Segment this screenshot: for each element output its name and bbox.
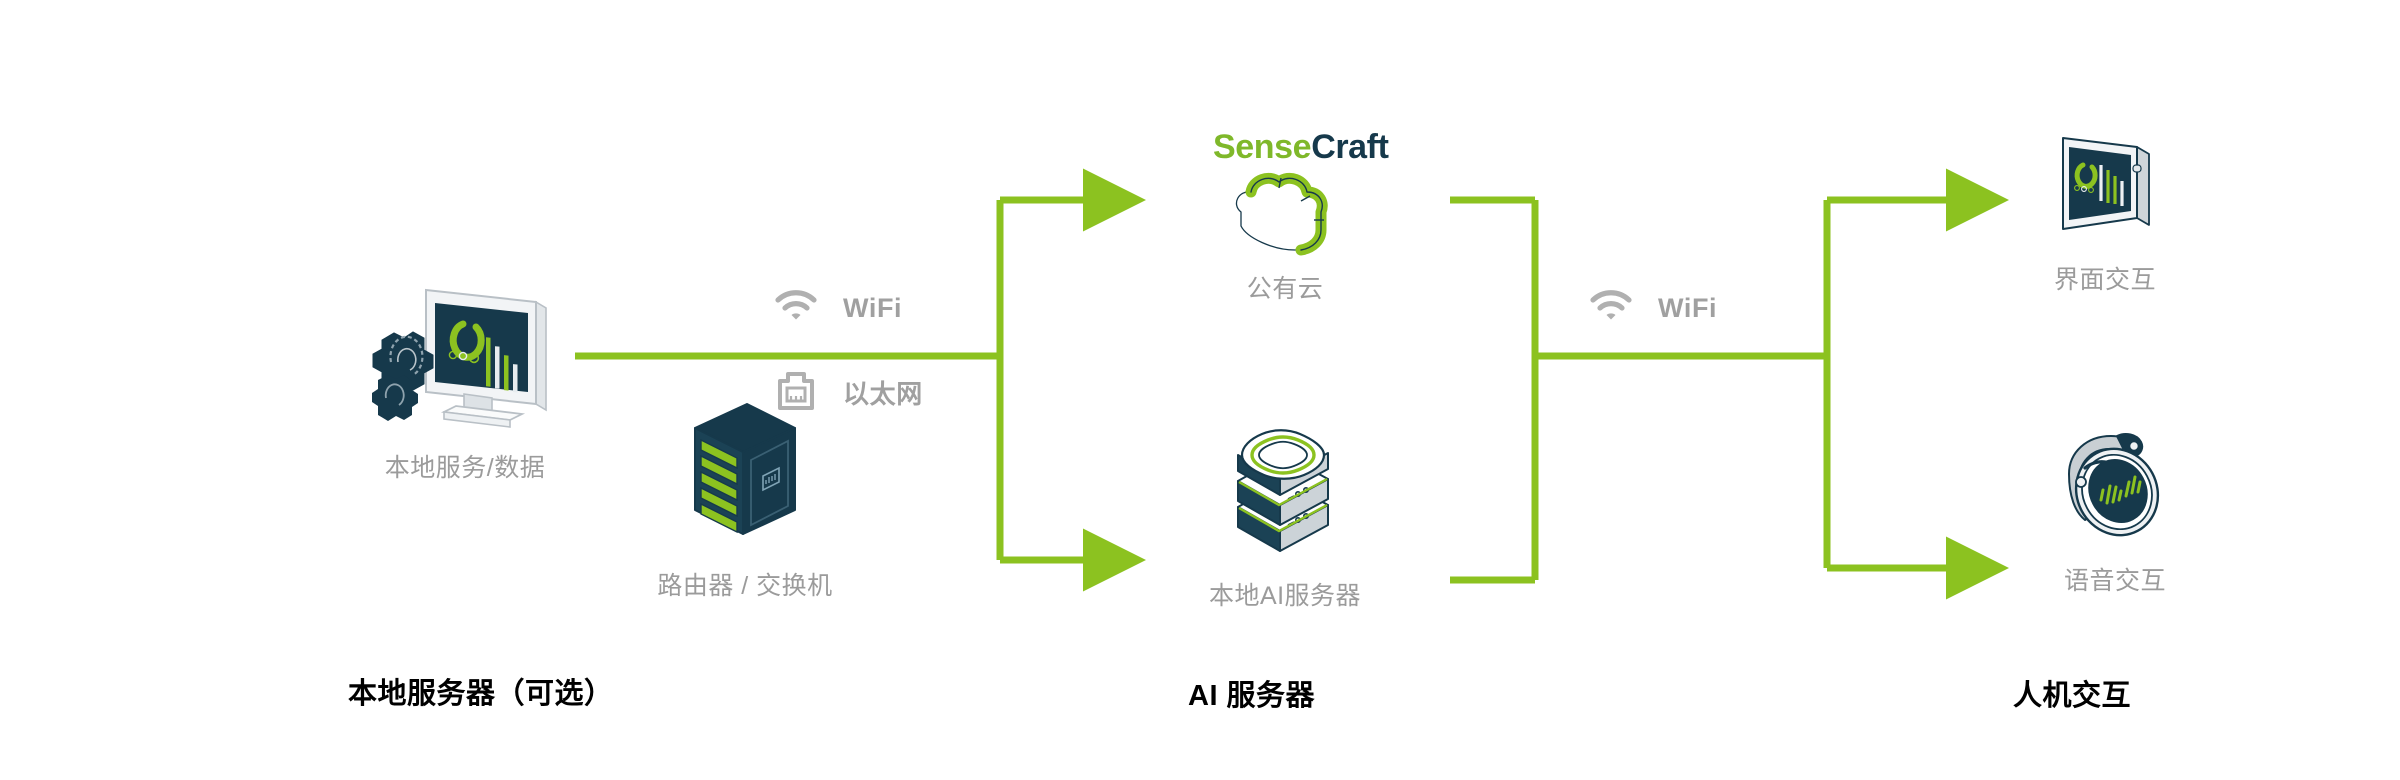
wifi-icon — [775, 290, 817, 327]
ai-server-stack-icon — [1228, 425, 1343, 570]
node-ui-interaction-caption: 界面交互 — [2054, 268, 2156, 293]
smart-speaker-icon — [2055, 430, 2175, 555]
cloud-icon — [1225, 168, 1345, 265]
node-local-service[interactable]: 本地服务/数据 — [340, 262, 590, 481]
link-label-ethernet-text: 以太网 — [843, 381, 923, 407]
sensecraft-logo-part1: Sense — [1213, 128, 1311, 166]
node-voice-interaction-caption: 语音交互 — [2064, 569, 2166, 594]
node-local-ai-server[interactable]: 本地AI服务器 — [1180, 425, 1390, 609]
node-router-caption: 路由器 / 交换机 — [657, 574, 832, 599]
sensecraft-logo-part2: Craft — [1311, 128, 1388, 166]
section-title-local-server: 本地服务器（可选） — [348, 680, 614, 709]
ethernet-port-icon — [775, 370, 817, 417]
link-label-wifi-left: WiFi — [775, 290, 902, 327]
architecture-diagram: 本地服务/数据 — [0, 0, 2400, 780]
sensecraft-logo: SenseCraft — [1213, 130, 1389, 164]
node-ui-interaction[interactable]: 界面交互 — [2010, 125, 2200, 293]
node-local-service-caption: 本地服务/数据 — [385, 456, 545, 481]
link-label-wifi-right-text: WiFi — [1658, 295, 1717, 322]
node-local-ai-server-caption: 本地AI服务器 — [1209, 584, 1361, 609]
server-rack-icon — [685, 398, 805, 558]
wifi-icon — [1590, 290, 1632, 327]
link-label-ethernet: 以太网 — [775, 370, 923, 417]
monitor-dashboard-icon — [360, 262, 570, 442]
node-public-cloud-caption: 公有云 — [1247, 277, 1324, 302]
link-label-wifi-right: WiFi — [1590, 290, 1717, 327]
section-title-human-interaction: 人机交互 — [2013, 682, 2131, 711]
node-public-cloud[interactable]: 公有云 — [1195, 168, 1375, 302]
node-voice-interaction[interactable]: 语音交互 — [2020, 430, 2210, 594]
tablet-icon — [2049, 125, 2161, 254]
link-label-wifi-left-text: WiFi — [843, 295, 902, 322]
section-title-ai-server: AI 服务器 — [1188, 682, 1315, 711]
node-router[interactable]: 路由器 / 交换机 — [610, 398, 880, 599]
